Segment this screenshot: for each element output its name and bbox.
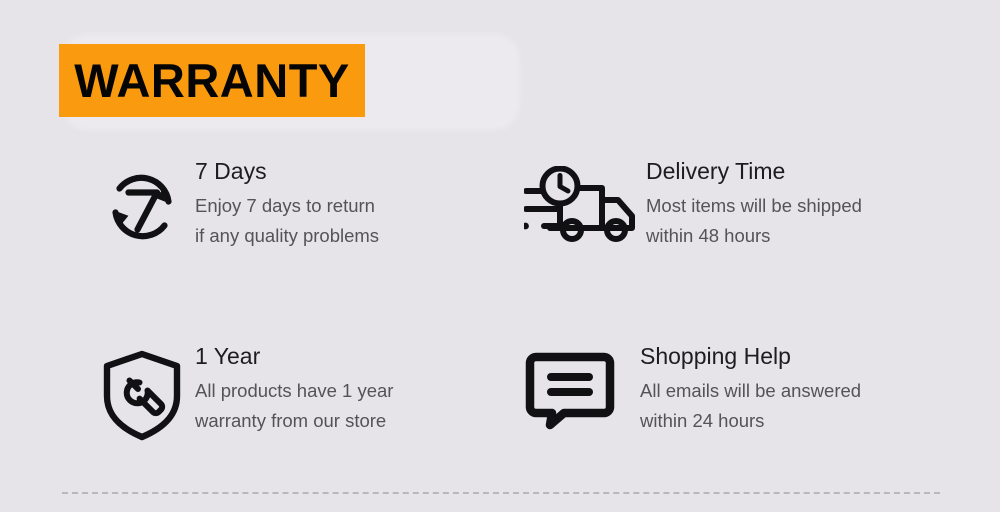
feature-item-shopping-help: Shopping Help All emails will be answere… bbox=[500, 337, 1000, 443]
feature-line-1: All products have 1 year bbox=[195, 376, 393, 406]
shield-wrench-icon bbox=[99, 337, 195, 443]
chat-bubble-icon bbox=[524, 337, 640, 433]
feature-line-2: within 48 hours bbox=[646, 221, 862, 251]
warranty-banner: WARRANTY bbox=[59, 44, 365, 117]
feature-line-2: if any quality problems bbox=[195, 221, 379, 251]
feature-title: Delivery Time bbox=[646, 158, 862, 184]
feature-line-1: Enjoy 7 days to return bbox=[195, 191, 379, 221]
feature-line-1: All emails will be answered bbox=[640, 376, 861, 406]
feature-item-7-days: 7 Days Enjoy 7 days to return if any qua… bbox=[0, 152, 500, 337]
feature-item-delivery-time: Delivery Time Most items will be shipped… bbox=[500, 152, 1000, 337]
feature-item-1-year: 1 Year All products have 1 year warranty… bbox=[0, 337, 500, 443]
page-title: WARRANTY bbox=[74, 57, 350, 104]
bottom-divider bbox=[62, 492, 940, 494]
feature-text-7-days: 7 Days Enjoy 7 days to return if any qua… bbox=[195, 152, 379, 251]
feature-text-shopping-help: Shopping Help All emails will be answere… bbox=[640, 337, 861, 436]
feature-title: 7 Days bbox=[195, 158, 379, 184]
feature-title: Shopping Help bbox=[640, 343, 861, 369]
warranty-infographic: WARRANTY 7 Days bbox=[0, 0, 1000, 512]
feature-line-1: Most items will be shipped bbox=[646, 191, 862, 221]
feature-line-2: within 24 hours bbox=[640, 406, 861, 436]
feature-text-delivery-time: Delivery Time Most items will be shipped… bbox=[646, 152, 862, 251]
feature-text-1-year: 1 Year All products have 1 year warranty… bbox=[195, 337, 393, 436]
features-row-top: 7 Days Enjoy 7 days to return if any qua… bbox=[0, 152, 1000, 337]
features-grid: 7 Days Enjoy 7 days to return if any qua… bbox=[0, 152, 1000, 443]
delivery-truck-clock-icon bbox=[524, 152, 646, 246]
feature-title: 1 Year bbox=[195, 343, 393, 369]
features-row-bottom: 1 Year All products have 1 year warranty… bbox=[0, 337, 1000, 443]
feature-line-2: warranty from our store bbox=[195, 406, 393, 436]
return-7-days-icon bbox=[99, 152, 195, 250]
